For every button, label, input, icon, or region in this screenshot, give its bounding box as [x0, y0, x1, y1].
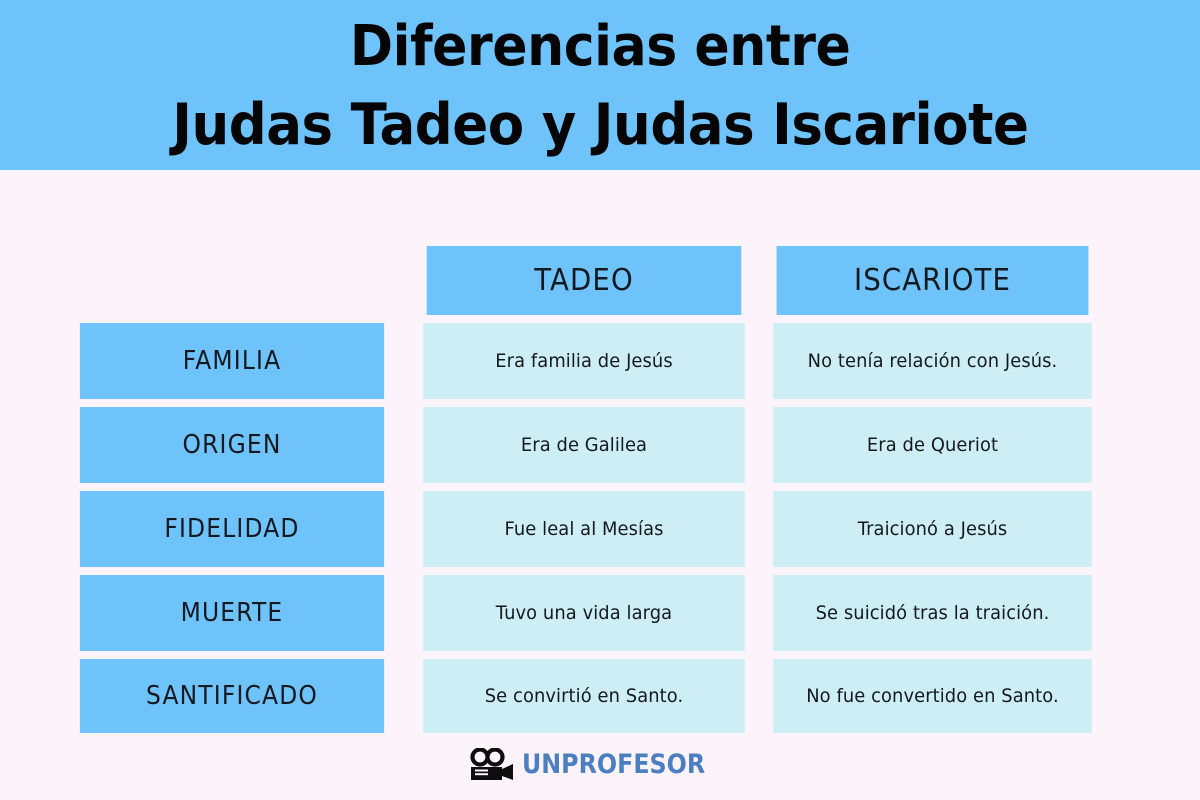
row-label-muerte: MUERTE [80, 575, 384, 651]
row-value-iscariote-fidelidad: Traicionó a Jesús [773, 491, 1092, 567]
table-header-row: TADEO ISCARIOTE [63, 246, 1102, 315]
comparison-table: TADEO ISCARIOTE FAMILIA Era familia de J… [63, 246, 1102, 741]
header-cell-iscariote: ISCARIOTE [777, 246, 1089, 315]
title-line-1: Diferencias entre [350, 8, 851, 86]
row-value-iscariote-origen: Era de Queriot [773, 407, 1092, 483]
row-value-tadeo-fidelidad: Fue leal al Mesías [423, 491, 744, 567]
brand-name: UNPROFESOR [522, 750, 705, 780]
row-value-tadeo-origen: Era de Galilea [423, 407, 744, 483]
title-banner: Diferencias entre Judas Tadeo y Judas Is… [0, 0, 1200, 170]
table-row: FIDELIDAD Fue leal al Mesías Traicionó a… [63, 491, 1102, 567]
header-cell-tadeo: TADEO [427, 246, 742, 315]
title-line-2: Judas Tadeo y Judas Iscariote [172, 86, 1028, 164]
row-value-iscariote-santificado: No fue convertido en Santo. [773, 659, 1092, 733]
row-label-origen: ORIGEN [80, 407, 384, 483]
footer-logo: UNPROFESOR [0, 742, 1200, 788]
row-value-tadeo-familia: Era familia de Jesús [423, 323, 744, 399]
row-value-iscariote-familia: No tenía relación con Jesús. [773, 323, 1092, 399]
table-row: MUERTE Tuvo una vida larga Se suicidó tr… [63, 575, 1102, 651]
row-value-tadeo-santificado: Se convirtió en Santo. [423, 659, 744, 733]
row-value-tadeo-muerte: Tuvo una vida larga [423, 575, 744, 651]
table-row: FAMILIA Era familia de Jesús No tenía re… [63, 323, 1102, 399]
table-row: SANTIFICADO Se convirtió en Santo. No fu… [63, 659, 1102, 733]
row-value-iscariote-muerte: Se suicidó tras la traición. [773, 575, 1092, 651]
row-label-familia: FAMILIA [80, 323, 384, 399]
header-cell-empty [63, 246, 401, 315]
row-label-fidelidad: FIDELIDAD [80, 491, 384, 567]
video-camera-icon [469, 748, 515, 782]
table-row: ORIGEN Era de Galilea Era de Queriot [63, 407, 1102, 483]
row-label-santificado: SANTIFICADO [80, 659, 384, 733]
